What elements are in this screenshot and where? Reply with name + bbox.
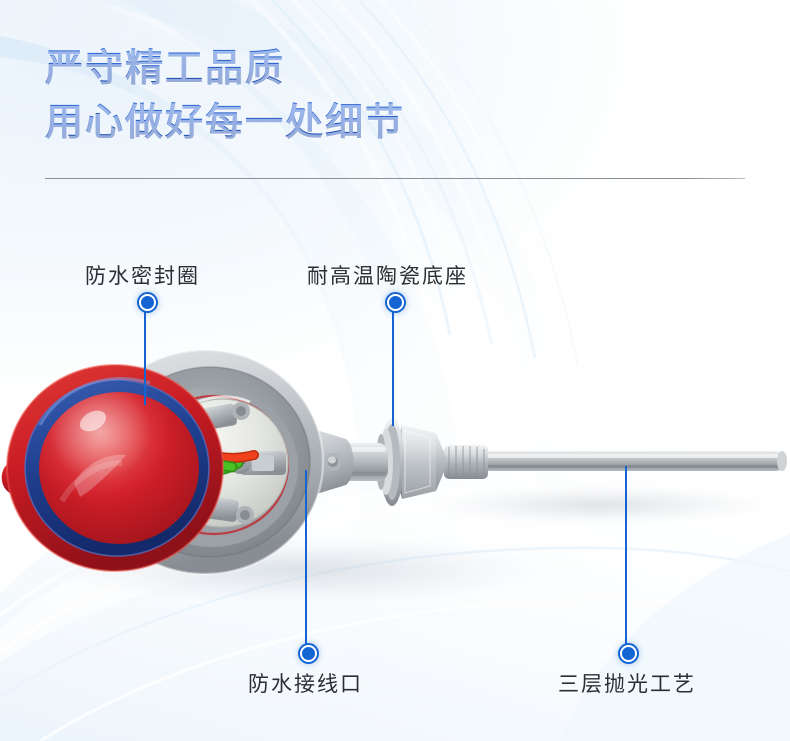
callout-label-triple-polish: 三层抛光工艺 <box>558 668 696 698</box>
leader-line-triple-polish <box>625 466 627 648</box>
callout-label-ceramic-base: 耐高温陶瓷底座 <box>307 260 468 290</box>
red-cap-assembly <box>2 365 223 571</box>
headline-divider <box>45 178 745 179</box>
temperature-sensor-illustration <box>0 355 790 615</box>
leader-line-ceramic-base <box>392 301 394 426</box>
probe-stem <box>480 451 787 471</box>
callout-dot-waterproof-port[interactable] <box>300 645 317 662</box>
product-photo <box>0 355 790 615</box>
callout-dot-ceramic-base[interactable] <box>387 294 404 311</box>
marketing-banner: 严守精工品质 用心做好每一处细节 <box>0 0 790 741</box>
callout-dot-triple-polish[interactable] <box>620 645 637 662</box>
callout-label-waterproof-seal: 防水密封圈 <box>85 260 200 290</box>
callout-label-waterproof-port: 防水接线口 <box>248 668 363 698</box>
headline-block: 严守精工品质 用心做好每一处细节 <box>45 46 685 146</box>
headline-line-2: 用心做好每一处细节 <box>45 100 685 146</box>
leader-line-waterproof-port <box>305 470 307 648</box>
threaded-fitting <box>444 445 488 479</box>
leader-line-waterproof-seal <box>144 301 146 405</box>
headline-line-1: 严守精工品质 <box>45 46 685 92</box>
callout-dot-waterproof-seal[interactable] <box>139 294 156 311</box>
